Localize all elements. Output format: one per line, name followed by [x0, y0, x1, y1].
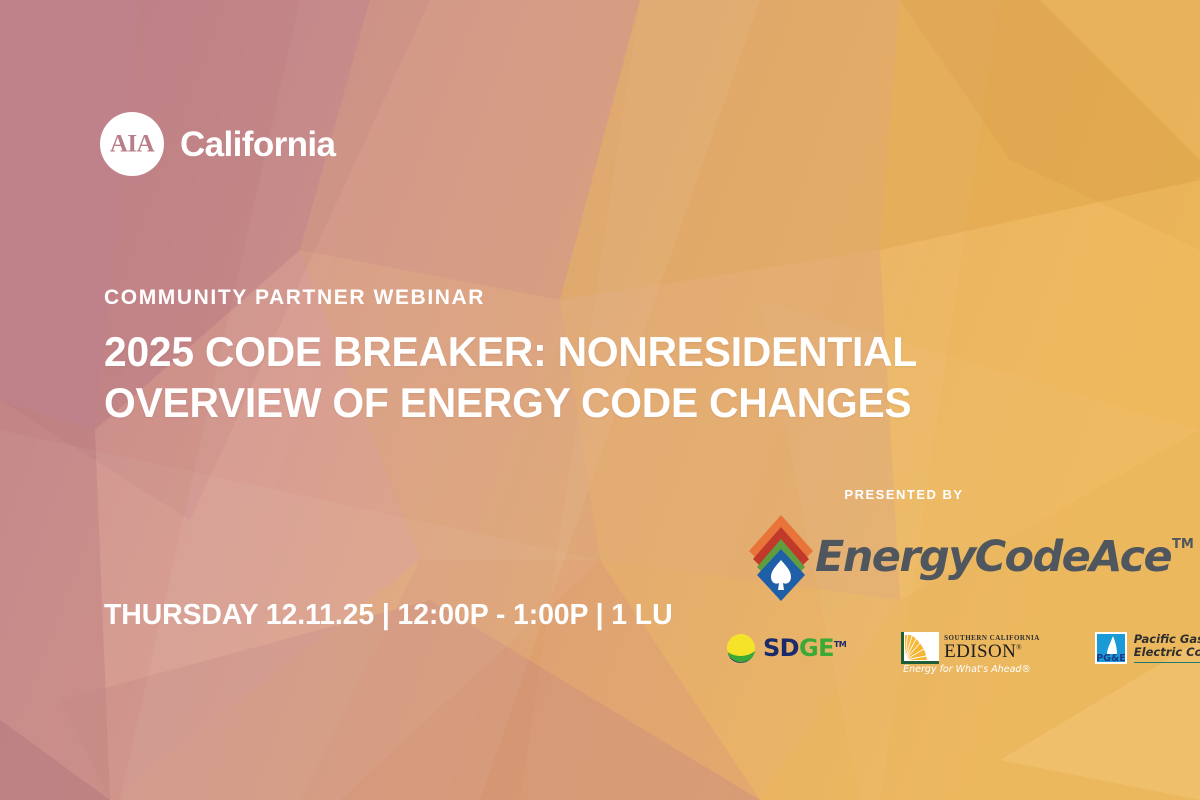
promo-graphic: AIA California COMMUNITY PARTNER WEBINAR…	[0, 0, 1200, 800]
presented-by-label: PRESENTED BY	[715, 488, 1135, 502]
sdge-name-part-1: SD	[763, 634, 799, 662]
page-title: 2025 CODE BREAKER: NONRESIDENTIAL OVERVI…	[104, 326, 977, 428]
svg-text:PG&E: PG&E	[1096, 653, 1126, 664]
edison-wordmark: SOUTHERN CALIFORNIA EDISON®	[944, 635, 1040, 662]
title-line-2: OVERVIEW OF ENERGY CODE CHANGES	[104, 377, 977, 428]
eyebrow-label: COMMUNITY PARTNER WEBINAR	[104, 286, 1004, 309]
energycodeace-name-part-1: EnergyCode	[815, 532, 1089, 582]
sdge-wordmark: SDGETM	[763, 636, 846, 660]
headline-group: COMMUNITY PARTNER WEBINAR 2025 CODE BREA…	[104, 286, 1004, 429]
sdge-swoosh-icon	[726, 633, 756, 663]
presenter-block: PRESENTED BY EnergyCodeAce TM	[715, 488, 1135, 603]
aia-logo-wordmark: California	[180, 127, 335, 162]
energycodeace-wordmark-text: EnergyCodeAce	[815, 536, 1171, 579]
edison-sunburst-icon	[901, 632, 939, 664]
aia-logo-letters: AIA	[110, 131, 154, 156]
energycodeace-wordmark: EnergyCodeAce TM	[815, 536, 1194, 579]
energycodeace-name-part-2: Ace	[1089, 532, 1171, 582]
sponsor-logo-pge: PG&E Pacific Gas and Electric Company®	[1095, 632, 1200, 664]
energycodeace-trademark-icon: TM	[1172, 538, 1194, 551]
pge-wordmark: Pacific Gas and Electric Company®	[1134, 633, 1200, 663]
edison-name: EDISON®	[944, 642, 1040, 662]
sponsor-logo-row: SDGETM	[718, 632, 1118, 664]
title-line-1: 2025 CODE BREAKER: NONRESIDENTIAL	[104, 326, 977, 377]
aia-california-logo: AIA California	[100, 112, 335, 176]
edison-registered-icon: ®	[1016, 643, 1022, 651]
pge-name-line-2: Electric Company®	[1134, 646, 1200, 659]
pge-flame-icon: PG&E	[1095, 632, 1127, 664]
sponsor-logo-sdge: SDGETM	[726, 633, 846, 663]
energycodeace-logo: EnergyCodeAce TM	[715, 511, 1135, 603]
event-datetime: THURSDAY 12.11.25 | 12:00P - 1:00P | 1 L…	[104, 600, 672, 632]
pge-underline-rule	[1134, 662, 1200, 664]
sdge-trademark-icon: TM	[834, 640, 846, 649]
aia-logo-mark: AIA	[100, 112, 164, 176]
sdge-name-part-2: GE	[799, 634, 834, 662]
edison-tagline: Energy for What's Ahead®	[903, 664, 1031, 675]
energycodeace-chevron-diamond-icon	[745, 511, 817, 603]
sponsor-logo-edison: SOUTHERN CALIFORNIA EDISON® Energy for W…	[901, 632, 1040, 664]
